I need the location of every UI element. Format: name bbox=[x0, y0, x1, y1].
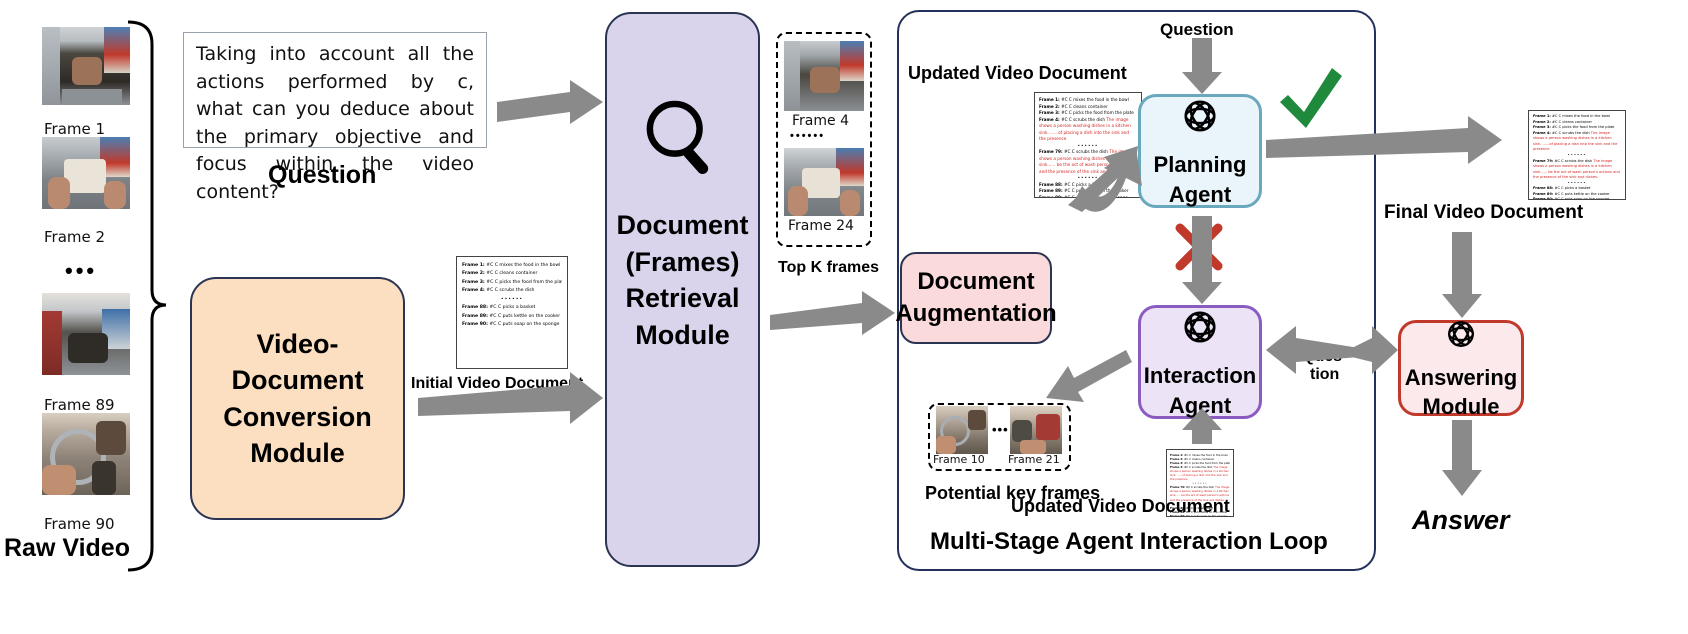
doc-line: Frame 4: #C C scrubs the dish bbox=[462, 287, 562, 295]
doc-line: Frame 89: #C C puts kettle on the cooker bbox=[462, 313, 562, 321]
arrow-retrieval-to-augmentation bbox=[770, 291, 895, 335]
planning-agent-label: Planning Agent bbox=[1154, 150, 1247, 209]
agent-loop-question-label: Question bbox=[1160, 20, 1234, 40]
doc-line: Frame 2: #C C cleans container bbox=[462, 270, 562, 278]
final-video-document-label: Final Video Document bbox=[1384, 202, 1583, 224]
updated-video-document-top-label: Updated Video Document bbox=[908, 63, 1127, 84]
raw-frame-caption-89: Frame 89 bbox=[44, 396, 115, 414]
potential-key-frames-ellipsis: ••• bbox=[992, 422, 1009, 437]
raw-frame-thumbnail-2 bbox=[42, 137, 130, 209]
question-edge-label: Ques- tion bbox=[1302, 348, 1347, 383]
retrieval-module-label: Document (Frames) Retrieval Module bbox=[616, 207, 748, 353]
initial-video-document-card: Frame 1: #C C mixes the food in the bowl… bbox=[456, 256, 568, 369]
answer-label: Answer bbox=[1412, 505, 1510, 536]
raw-frame-thumbnail-1 bbox=[42, 27, 130, 105]
doc-line: Frame 90: #C C puts soap on the sponge bbox=[1533, 197, 1621, 200]
doc-line-augmented: Frame 4: #C C scrubs the dish The image … bbox=[1039, 117, 1137, 143]
potential-key-frame-thumbnail-21 bbox=[1010, 406, 1062, 454]
doc-line: Frame 90: #C C puts soap on the sponge bbox=[462, 321, 562, 329]
doc-line-augmented: Frame 79: #C C scrubs the dish The image… bbox=[1039, 149, 1137, 175]
raw-video-ellipsis: ••• bbox=[65, 258, 97, 284]
raw-frame-thumbnail-90 bbox=[42, 413, 130, 495]
topk-frame-thumbnail-24 bbox=[784, 148, 864, 216]
openai-logo-icon bbox=[1441, 314, 1481, 362]
doc-line: Frame 1: #C C mixes the food in the bowl bbox=[462, 262, 562, 270]
topk-frame-caption-4: Frame 4 bbox=[792, 113, 849, 129]
raw-video-column: Frame 1 Frame 2 ••• Frame 89 Frame 90 Ra… bbox=[0, 0, 175, 634]
answering-module-label: Answering Module bbox=[1405, 363, 1517, 422]
potential-key-frame-caption-10: Frame 10 bbox=[933, 453, 985, 466]
video-document-conversion-module-label: Video- Document Conversion Module bbox=[223, 326, 372, 472]
doc-line: Frame 88: #C C picks a basket bbox=[462, 304, 562, 312]
doc-line: Frame 90: #C C puts soap on the sponge bbox=[1039, 195, 1137, 199]
doc-line-augmented: Frame 4: #C C scrubs the dish The image … bbox=[1533, 131, 1621, 153]
planning-agent-box[interactable]: Planning Agent bbox=[1138, 94, 1262, 208]
topk-frame-caption-24: Frame 24 bbox=[788, 218, 854, 234]
arrow-question-to-retrieval bbox=[497, 80, 603, 124]
video-document-conversion-module[interactable]: Video- Document Conversion Module bbox=[190, 277, 405, 520]
doc-line-augmented: Frame 79: #C C scrubs the dish The image… bbox=[1533, 159, 1621, 181]
answering-module-box[interactable]: Answering Module bbox=[1398, 320, 1524, 416]
document-frames-retrieval-module[interactable]: Document (Frames) Retrieval Module bbox=[605, 12, 760, 567]
document-augmentation-box[interactable]: Document Augmentation bbox=[900, 252, 1052, 344]
raw-frame-caption-1: Frame 1 bbox=[44, 120, 105, 138]
question-text-box: Taking into account all the actions perf… bbox=[183, 32, 487, 148]
interaction-agent-box[interactable]: Interaction Agent bbox=[1138, 305, 1262, 419]
top-k-frames-label: Top K frames bbox=[778, 259, 879, 277]
potential-key-frame-thumbnail-10 bbox=[936, 406, 988, 454]
doc-line-augmented: Frame 4: #C C scrubs the dish The image … bbox=[1170, 465, 1230, 481]
raw-frame-caption-2: Frame 2 bbox=[44, 228, 105, 246]
question-label: Question bbox=[268, 161, 376, 190]
interaction-agent-label: Interaction Agent bbox=[1144, 361, 1256, 420]
doc-line: Frame 3: #C C picks the food from the pl… bbox=[462, 279, 562, 287]
topk-frames-ellipsis: •••••• bbox=[790, 130, 825, 142]
openai-logo-icon bbox=[1176, 303, 1224, 359]
topk-frame-thumbnail-4 bbox=[784, 41, 864, 111]
document-augmentation-label: Document Augmentation bbox=[895, 266, 1056, 331]
potential-key-frame-caption-21: Frame 21 bbox=[1008, 453, 1060, 466]
arrow-final-doc-to-answering bbox=[1442, 232, 1482, 318]
doc-ellipsis: •••••• bbox=[462, 296, 562, 304]
updated-video-document-bottom-label: Updated Video Document bbox=[1011, 496, 1230, 517]
openai-logo-icon bbox=[1176, 92, 1224, 148]
updated-video-document-card-top: Frame 1: #C C mixes the food in the bowl… bbox=[1034, 92, 1142, 198]
magnifier-icon bbox=[637, 92, 729, 193]
initial-video-document-label: Initial Video Document bbox=[411, 375, 583, 393]
agent-loop-title: Multi-Stage Agent Interaction Loop bbox=[930, 528, 1328, 556]
raw-frame-thumbnail-89 bbox=[42, 293, 130, 375]
final-video-document-card: Frame 1: #C C mixes the food in the bowl… bbox=[1528, 110, 1626, 200]
raw-video-label: Raw Video bbox=[4, 534, 130, 563]
arrow-answering-to-answer bbox=[1442, 420, 1482, 496]
raw-frame-caption-90: Frame 90 bbox=[44, 515, 115, 533]
